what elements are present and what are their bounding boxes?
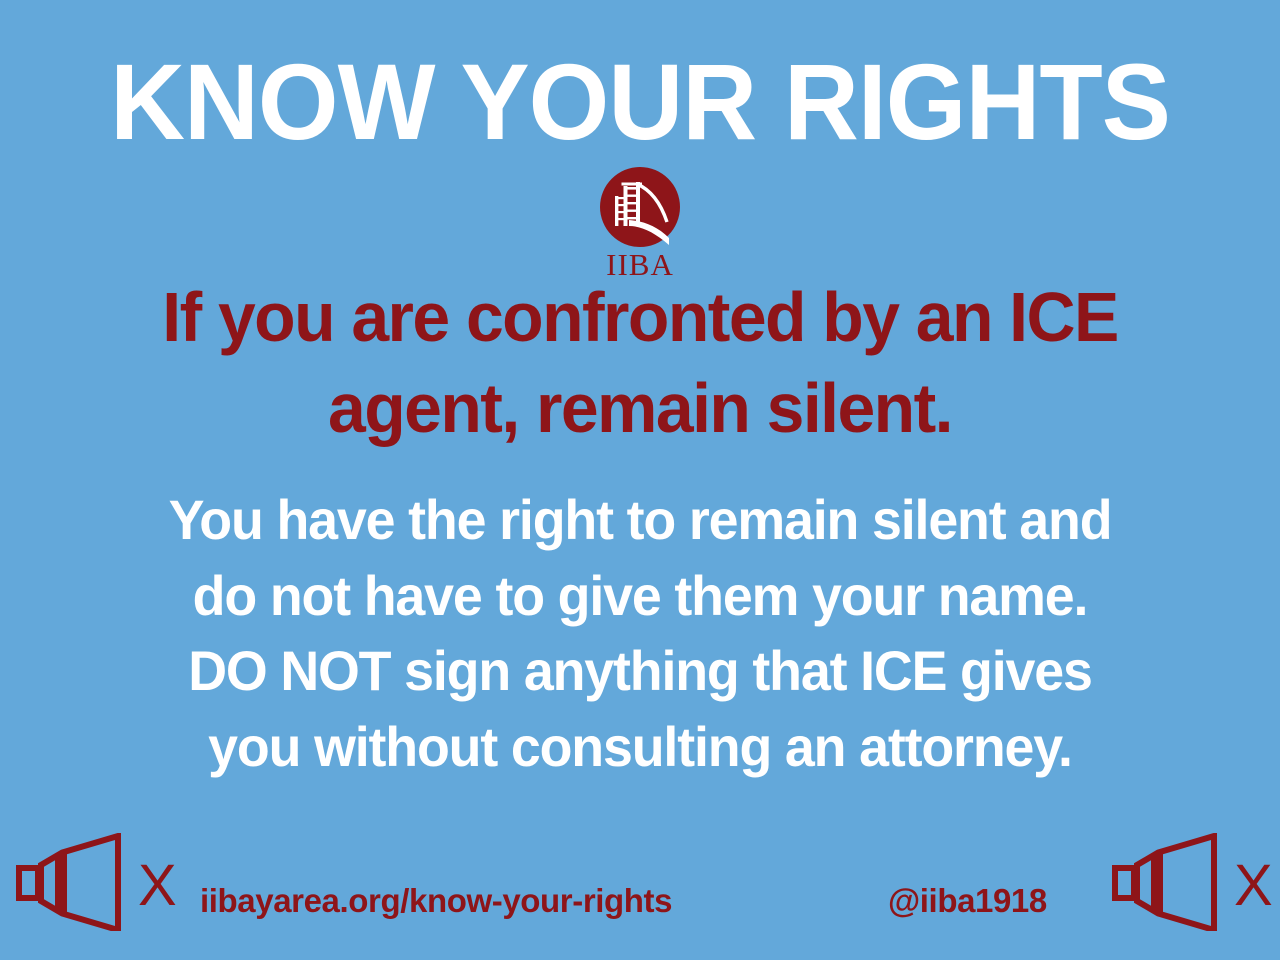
- footer-megaphone-right-group: X: [1110, 833, 1273, 931]
- footer-megaphone-left-group: X: [14, 833, 177, 931]
- body-line-2: do not have to give them your name.: [83, 558, 1197, 634]
- headline-line-1: If you are confronted by an ICE: [58, 272, 1222, 363]
- body-copy: You have the right to remain silent and …: [83, 482, 1197, 784]
- golden-gate-bridge-icon: [599, 166, 681, 248]
- logo: IIBA: [0, 166, 1280, 280]
- know-your-rights-poster: KNOW YOUR RIGHTS IIBA: [0, 0, 1280, 960]
- social-handle[interactable]: @iiba1918: [888, 884, 1047, 917]
- x-mark-right: X: [1234, 857, 1273, 915]
- website-link[interactable]: iibayarea.org/know-your-rights: [200, 884, 672, 917]
- headline-line-2: agent, remain silent.: [58, 363, 1222, 454]
- megaphone-icon: [14, 833, 132, 931]
- megaphone-icon: [1110, 833, 1228, 931]
- page-title: KNOW YOUR RIGHTS: [26, 48, 1255, 156]
- body-line-1: You have the right to remain silent and: [83, 482, 1197, 558]
- x-mark-left: X: [138, 857, 177, 915]
- headline: If you are confronted by an ICE agent, r…: [58, 272, 1222, 454]
- body-line-4: you without consulting an attorney.: [83, 709, 1197, 785]
- body-line-3: DO NOT sign anything that ICE gives: [83, 633, 1197, 709]
